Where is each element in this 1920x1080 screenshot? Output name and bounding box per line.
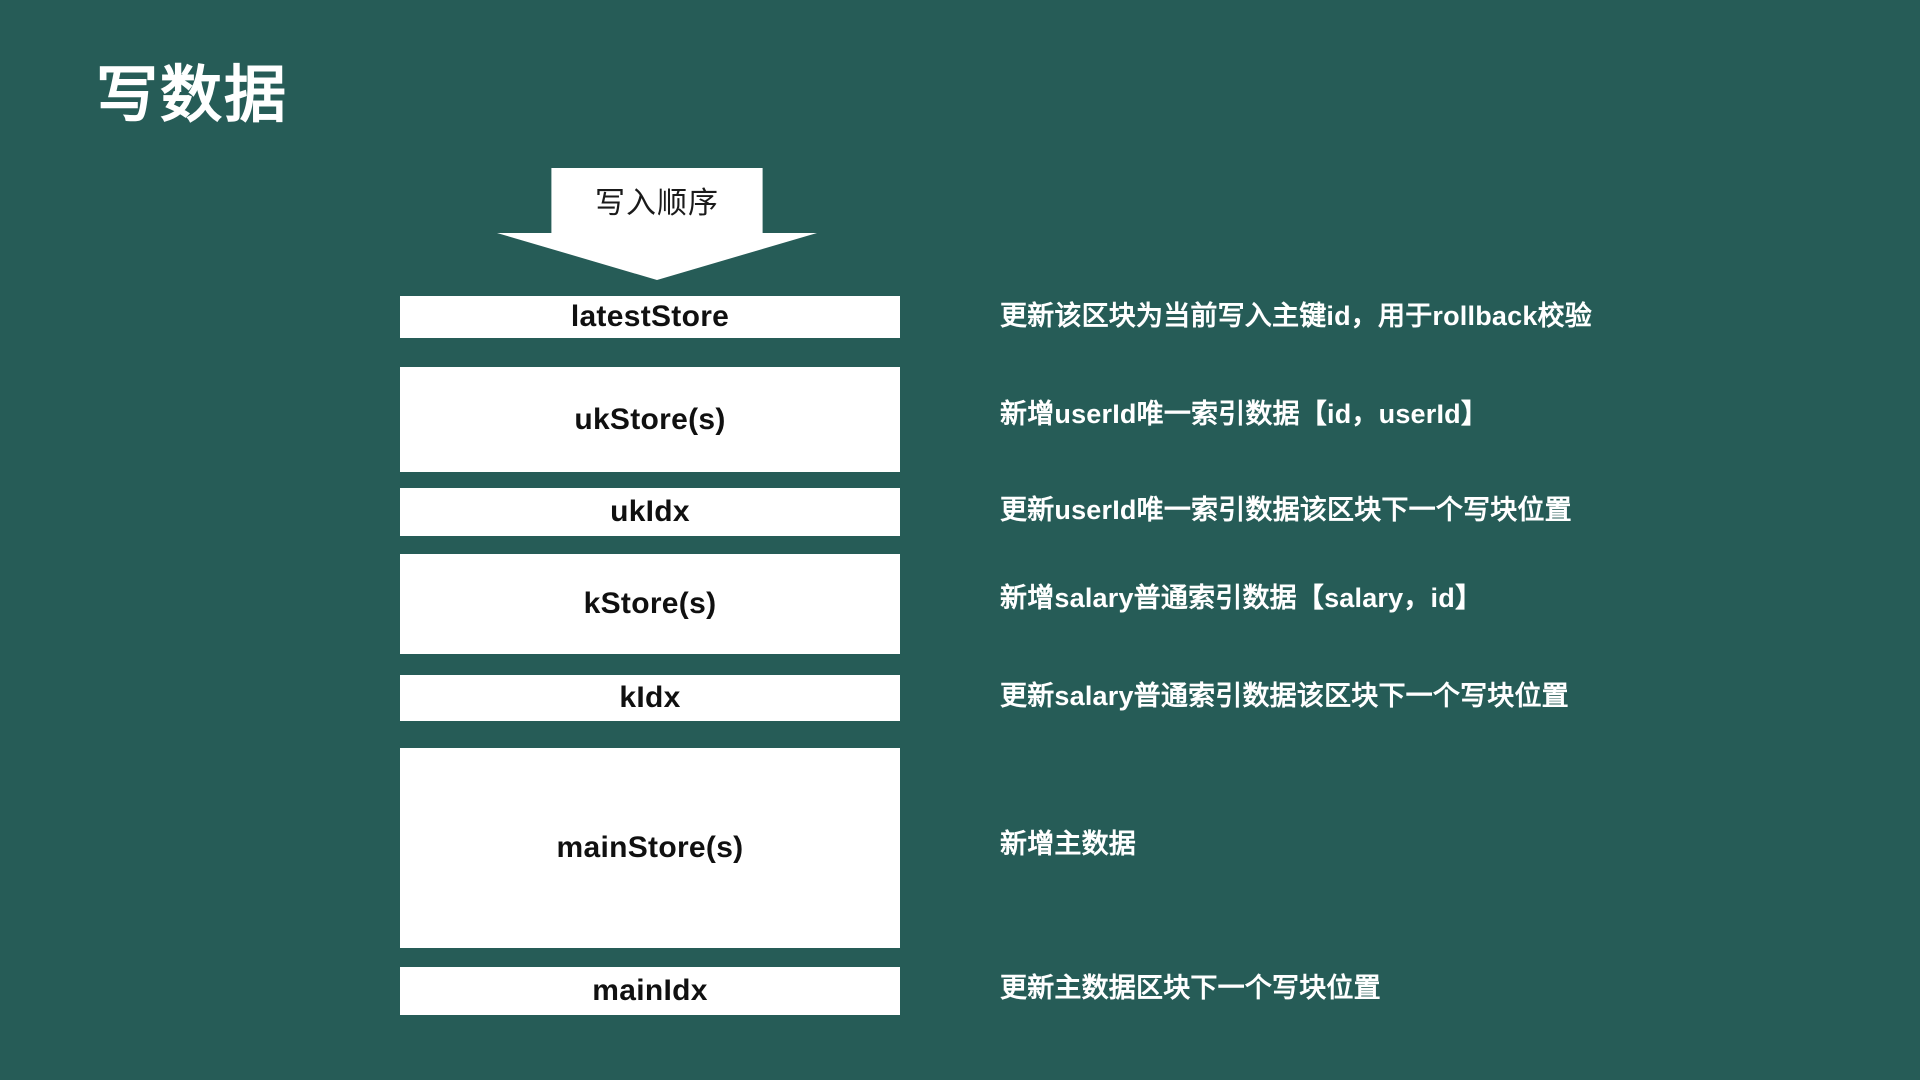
slide-canvas: 写数据 写入顺序 latestStore更新该区块为当前写入主键id，用于rol… xyxy=(0,0,1920,1080)
flow-step-box[interactable]: ukIdx xyxy=(400,488,900,536)
flow-step-description: 更新该区块为当前写入主键id，用于rollback校验 xyxy=(1000,300,1870,332)
flow-step-box[interactable]: latestStore xyxy=(400,296,900,338)
flow-step-box-label: mainStore(s) xyxy=(557,831,744,865)
flow-step-box-label: ukStore(s) xyxy=(574,403,725,437)
flow-step-box[interactable]: kStore(s) xyxy=(400,554,900,654)
flow-step-description: 更新userId唯一索引数据该区块下一个写块位置 xyxy=(1000,494,1870,526)
flow-step-description: 更新salary普通索引数据该区块下一个写块位置 xyxy=(1000,680,1870,712)
flow-step-box[interactable]: mainIdx xyxy=(400,967,900,1015)
flow-step-box-label: kStore(s) xyxy=(584,587,717,621)
flow-step-box-label: kIdx xyxy=(619,681,680,715)
flow-step-box[interactable]: ukStore(s) xyxy=(400,367,900,472)
write-flow-list: latestStore更新该区块为当前写入主键id，用于rollback校验uk… xyxy=(0,0,1920,1080)
flow-step-description: 新增主数据 xyxy=(1000,828,1870,860)
flow-step-description: 新增userId唯一索引数据【id，userId】 xyxy=(1000,398,1870,430)
flow-step-box-label: ukIdx xyxy=(610,495,690,529)
flow-step-box-label: latestStore xyxy=(571,300,729,334)
flow-step-box-label: mainIdx xyxy=(592,974,707,1008)
flow-step-box[interactable]: kIdx xyxy=(400,675,900,721)
flow-step-description: 新增salary普通索引数据【salary，id】 xyxy=(1000,582,1870,614)
flow-step-description: 更新主数据区块下一个写块位置 xyxy=(1000,972,1870,1004)
flow-step-box[interactable]: mainStore(s) xyxy=(400,748,900,948)
